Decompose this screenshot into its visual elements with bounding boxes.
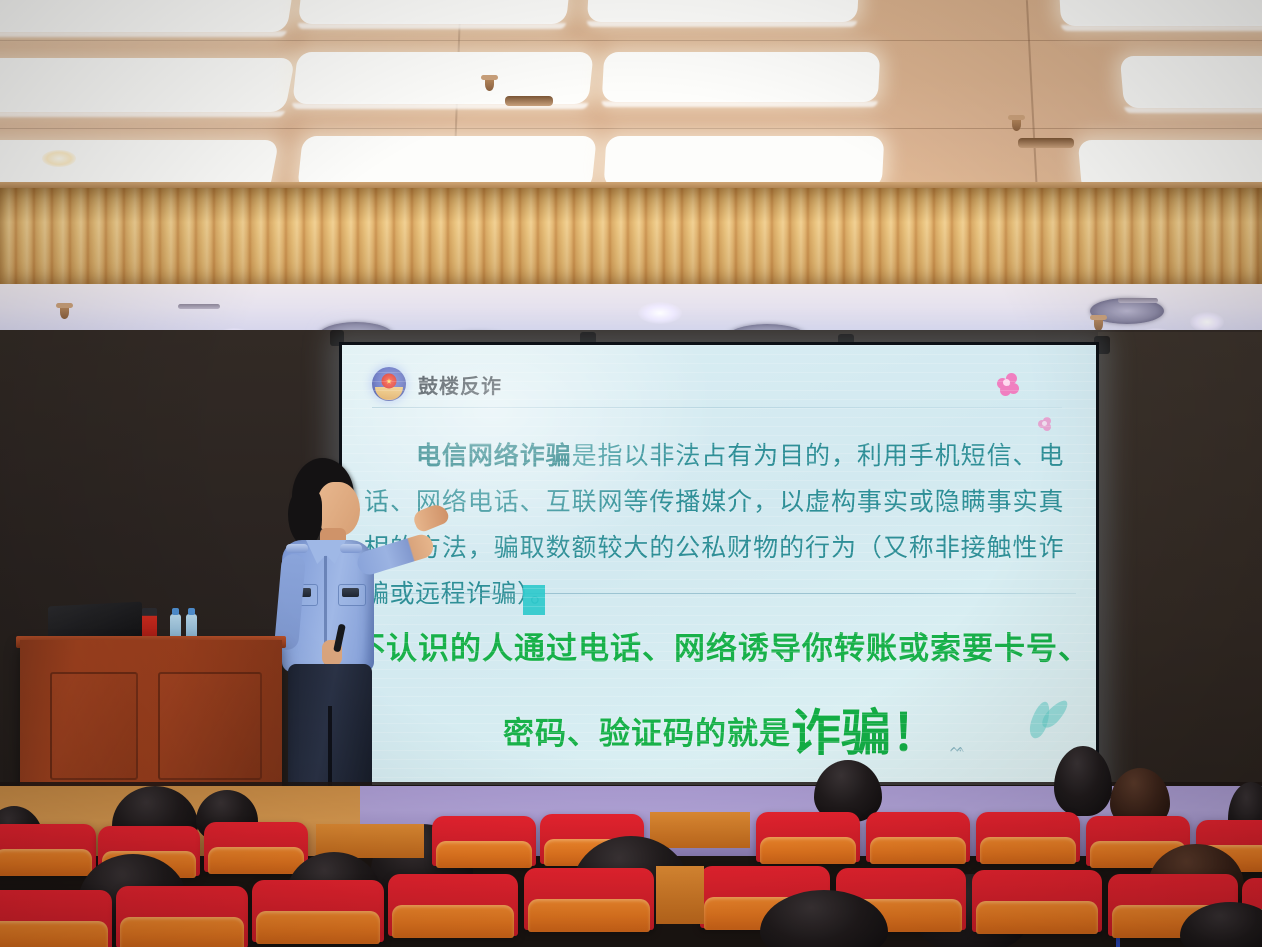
slide-header: 鼓楼反诈	[372, 367, 502, 401]
soffit-vent	[1118, 298, 1158, 303]
podium-panel	[158, 672, 262, 780]
projection-screen[interactable]: 鼓楼反诈 电信网络诈骗是指以非法占有为目的，利用手机短信、电话、网络电话、互联网…	[339, 342, 1099, 788]
audience-seat	[0, 824, 96, 874]
slide-highlight-line2-wrap: 密码、验证码的就是诈骗！	[342, 691, 1096, 776]
slide-highlight-line1-wrap: 不认识的人通过电话、网络诱导你转账或索要卡号、	[342, 607, 1096, 691]
soffit-vent	[178, 304, 220, 309]
aisle-wood-panel	[650, 812, 750, 848]
audience-seat	[972, 870, 1102, 932]
podium-panel	[50, 672, 138, 780]
slide-surface: 鼓楼反诈 电信网络诈骗是指以非法占有为目的，利用手机短信、电话、网络电话、互联网…	[342, 345, 1096, 785]
ceiling-downlight	[42, 150, 76, 167]
soffit-downlight	[638, 302, 682, 324]
slide-header-title: 鼓楼反诈	[418, 370, 502, 399]
audience-seat	[252, 880, 384, 942]
aisle-wood-panel	[656, 866, 704, 924]
audience-seat	[756, 812, 860, 862]
ceiling-vent	[505, 96, 553, 106]
slide-highlight-line1: 不认识的人通过电话、网络诱导你转账或索要卡号、	[354, 631, 1090, 667]
pink-flower-icon	[997, 373, 1019, 395]
ceiling-light-panel	[1120, 56, 1262, 108]
speaker-name-badge	[342, 588, 359, 597]
speaker-epaulet	[286, 544, 308, 553]
ceiling	[0, 0, 1262, 196]
slide-highlight-emphasis: 诈骗！	[791, 704, 941, 762]
text-cursor-block	[523, 585, 545, 615]
sprinkler-head-icon	[60, 306, 69, 319]
audience-seat	[524, 868, 654, 930]
ceiling-light-panel	[0, 0, 293, 32]
slide-divider	[360, 593, 1076, 594]
ceiling-light-panel	[0, 58, 295, 112]
speaker-right-arm-pointing	[354, 532, 436, 578]
ceiling-light-panel	[604, 136, 885, 188]
soffit-downlight	[1190, 312, 1224, 332]
slide-header-rule	[372, 407, 1062, 408]
ceiling-light-panel	[298, 0, 570, 24]
audience-seat	[116, 886, 248, 947]
audience-seat	[866, 812, 970, 862]
audience-seat	[976, 812, 1080, 862]
police-officer-presenter	[262, 458, 440, 810]
speaker-hair-back	[288, 488, 322, 546]
ceiling-light-panel	[602, 52, 881, 102]
ceiling-vent	[1018, 138, 1074, 148]
wood-slat-wall	[0, 188, 1262, 286]
audience-seat	[388, 874, 518, 936]
slide-highlight: 不认识的人通过电话、网络诱导你转账或索要卡号、 密码、验证码的就是诈骗！	[342, 607, 1096, 776]
audience-seat	[0, 890, 112, 947]
sprinkler-head-icon	[485, 78, 494, 91]
slide-paragraph: 电信网络诈骗是指以非法占有为目的，利用手机短信、电话、网络电话、互联网等传播媒介…	[364, 433, 1064, 617]
right-dark-wall	[1098, 332, 1262, 802]
auditorium-photo: 鼓楼反诈 电信网络诈骗是指以非法占有为目的，利用手机短信、电话、网络电话、互联网…	[0, 0, 1262, 947]
pink-flower-icon	[1038, 417, 1052, 431]
speaker-epaulet	[340, 544, 362, 553]
police-badge-icon	[372, 367, 406, 401]
grass-sketch-icon: ᨕ	[950, 741, 966, 756]
slide-highlight-line2: 密码、验证码的就是	[503, 716, 791, 752]
audience-seat	[432, 816, 536, 866]
sprinkler-head-icon	[1012, 118, 1021, 131]
audience-seat	[204, 822, 308, 872]
ceiling-light-panel	[1059, 0, 1262, 26]
ceiling-light-panel	[587, 0, 859, 22]
